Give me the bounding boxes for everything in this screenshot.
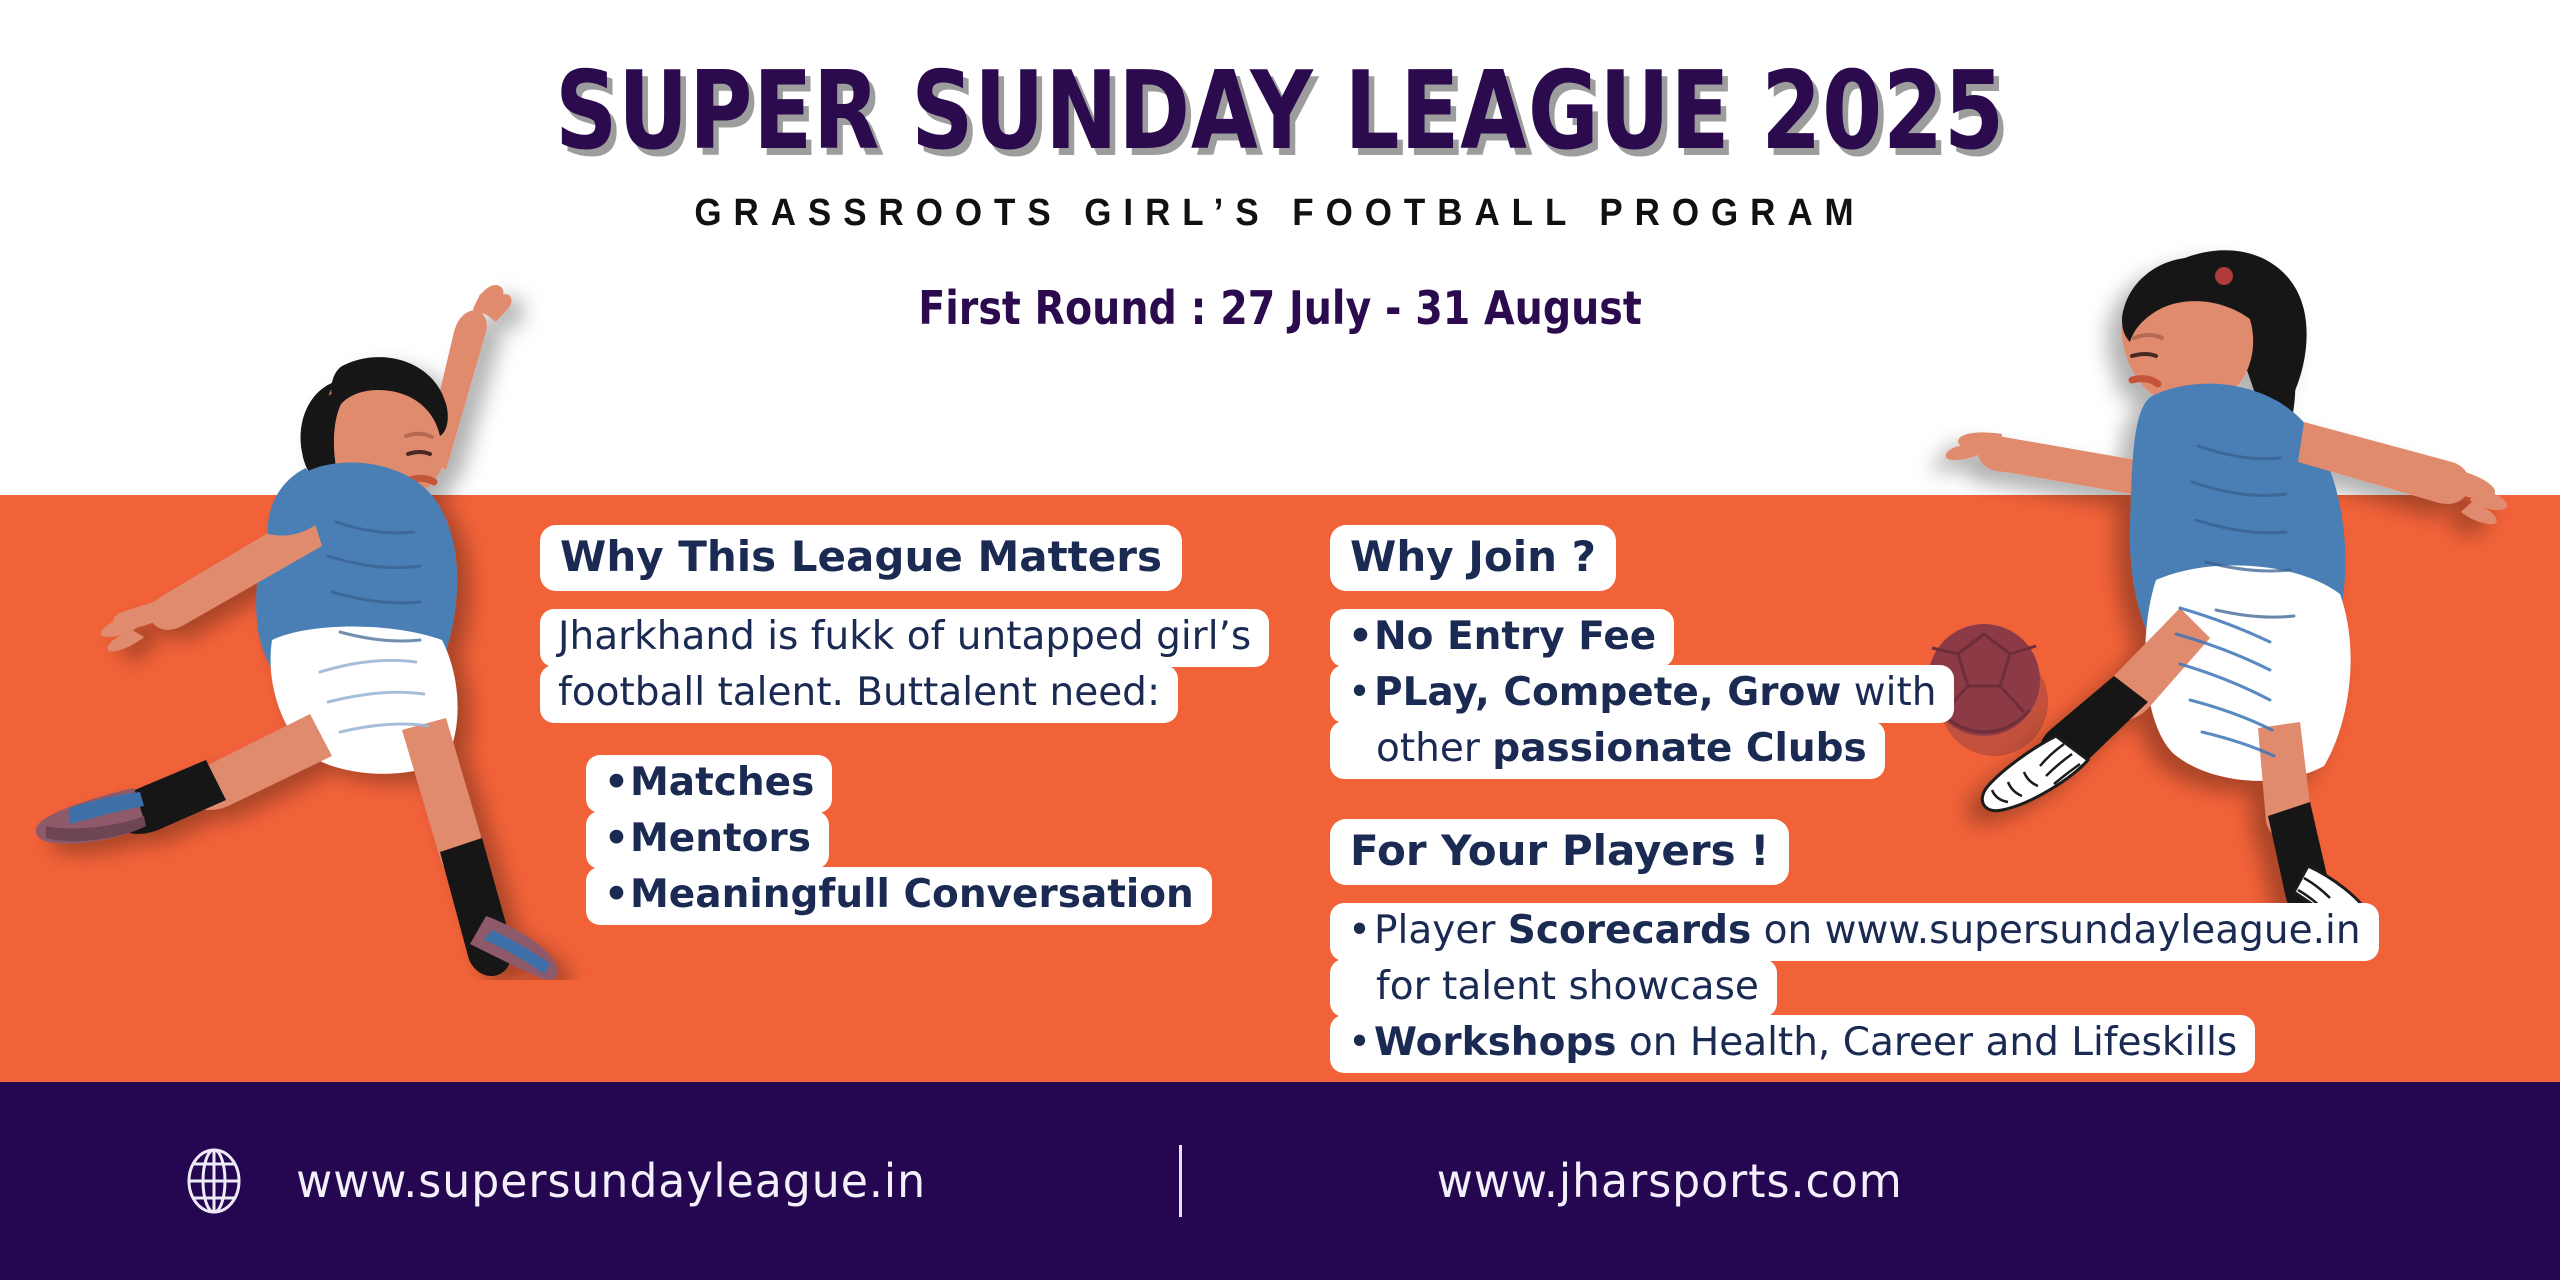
page-subtitle: GRASSROOTS GIRL’S FOOTBALL PROGRAM [102,192,2457,235]
heading-why-this-league-matters: Why This League Matters [540,525,1182,591]
list-item-label-bold: Workshops [1374,1020,1617,1065]
footer-left-group: www.supersundayleague.in [185,1148,939,1214]
globe-icon [185,1148,243,1214]
bullet-dot: • [1348,909,1374,953]
list-item-label-c: on www.supersundayleague.in [1751,908,2360,953]
bullet-dot: • [1348,671,1374,715]
list-item-label: No Entry Fee [1374,614,1656,659]
poster-header: SUPER SUNDAY LEAGUE 2025 GRASSROOTS GIRL… [0,0,2560,335]
left-bullet-list: •Matches •Mentors •Meaningfull Conversat… [540,755,1280,925]
poster-root: SUPER SUNDAY LEAGUE 2025 GRASSROOTS GIRL… [0,0,2560,1280]
bullet-dot: • [1348,1021,1374,1065]
spacer [1330,779,2310,819]
bullet-dot: • [604,817,630,861]
list-item-label: Matches [630,760,814,805]
list-item-continuation: for talent showcase [1330,959,1777,1017]
heading-why-join: Why Join ? [1330,525,1616,591]
right-content-column: Why Join ? •No Entry Fee •PLay, Compete,… [1330,525,2310,1073]
left-body-line-2: football talent. Buttalent need: [540,665,1178,723]
footer-bar: www.supersundayleague.in www.jharsports.… [0,1082,2560,1280]
bullet-dot: • [604,761,630,805]
list-item: •No Entry Fee [1330,609,1674,667]
for-your-players-bullet-list: •Player Scorecards on www.supersundaylea… [1330,903,2310,1073]
list-item-label-bold: PLay, Compete, Grow [1374,670,1841,715]
left-player-illustration [10,240,630,980]
bullet-dot: • [1348,615,1374,659]
bullet-dot: • [604,873,630,917]
footer-url-right[interactable]: www.jharsports.com [1437,1154,1903,1208]
list-item-continuation: other passionate Clubs [1330,721,1885,779]
list-item-label-a: Player [1374,908,1508,953]
list-item: •PLay, Compete, Grow with [1330,665,1954,723]
footer-url-left[interactable]: www.supersundayleague.in [296,1154,926,1208]
left-content-column: Why This League Matters Jharkhand is fuk… [540,525,1280,925]
list-item-label-bold: Scorecards [1508,908,1751,953]
list-item: •Player Scorecards on www.supersundaylea… [1330,903,2379,961]
title-wrap: SUPER SUNDAY LEAGUE 2025 [0,58,2560,166]
list-item-label: Meaningfull Conversation [630,872,1194,917]
left-body-stack: Jharkhand is fukk of untapped girl’s foo… [540,609,1280,723]
why-join-bullet-list: •No Entry Fee •PLay, Compete, Grow with … [1330,609,2310,779]
spacer [540,723,1280,737]
list-item: •Matches [586,755,832,813]
list-item-label: Mentors [630,816,811,861]
list-item-label-rest: other [1376,726,1492,771]
left-body-line-1: Jharkhand is fukk of untapped girl’s [540,609,1269,667]
list-item: •Workshops on Health, Career and Lifeski… [1330,1015,2255,1073]
list-item: •Mentors [586,811,829,869]
list-item-label-c: on Health, Career and Lifeskills [1617,1020,2238,1065]
footer-separator [1179,1145,1182,1217]
page-title: SUPER SUNDAY LEAGUE 2025 [256,58,2304,166]
list-item-label-bold: passionate Clubs [1492,726,1866,771]
list-item-label-rest: with [1841,670,1936,715]
heading-for-your-players: For Your Players ! [1330,819,1789,885]
date-range: First Round : 27 July - 31 August [179,281,2381,335]
list-item: •Meaningfull Conversation [586,867,1212,925]
